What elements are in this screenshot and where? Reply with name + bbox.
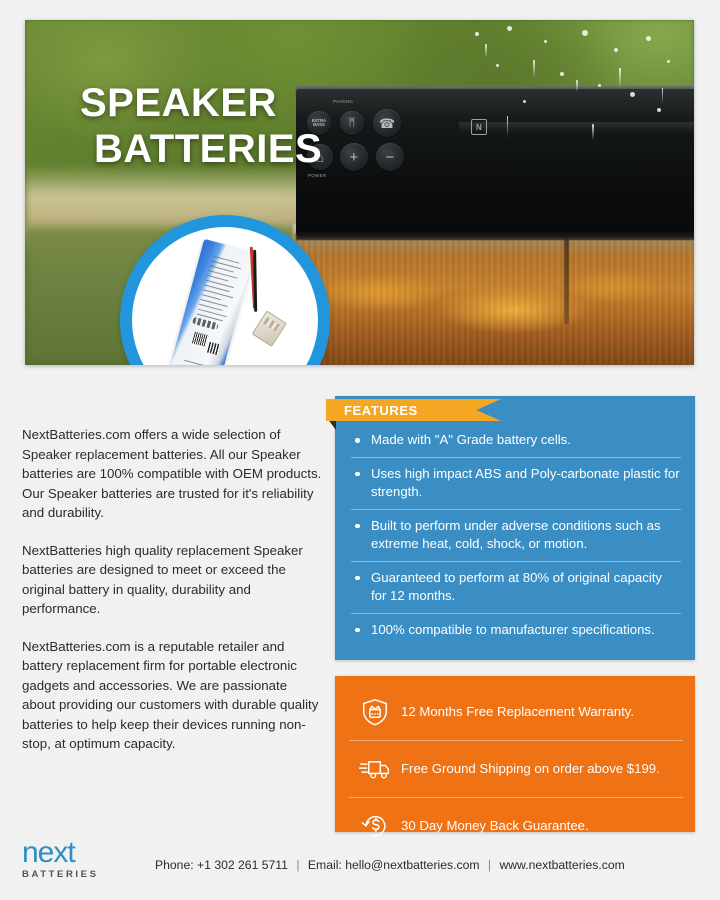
feature-item: Built to perform under adverse condition… bbox=[351, 510, 681, 562]
benefit-item: 12 Months Free Replacement Warranty. bbox=[349, 684, 683, 741]
logo-wordmark: next bbox=[22, 838, 130, 868]
feature-text: 100% compatible to manufacturer specific… bbox=[371, 621, 681, 640]
bullet-icon bbox=[355, 576, 360, 581]
bullet-icon bbox=[355, 524, 360, 529]
volume-down-button[interactable]: − bbox=[376, 143, 404, 171]
hero-title-line1: SPEAKER bbox=[80, 80, 322, 126]
hero-title-line2: BATTERIES bbox=[94, 126, 322, 172]
benefit-text: 12 Months Free Replacement Warranty. bbox=[401, 703, 634, 722]
pairing-label: PAIRING bbox=[333, 99, 353, 104]
bullet-icon bbox=[355, 472, 360, 477]
call-button[interactable]: ☎ bbox=[373, 109, 401, 137]
battery-black-wire bbox=[253, 250, 257, 312]
phone-number[interactable]: +1 302 261 5711 bbox=[197, 858, 288, 872]
features-heading-ribbon: FEATURES bbox=[326, 399, 501, 421]
bullet-icon bbox=[355, 628, 360, 633]
feature-text: Built to perform under adverse condition… bbox=[371, 517, 681, 554]
battery-pack-image bbox=[165, 239, 254, 365]
plank-nail bbox=[564, 234, 569, 324]
about-paragraph-1: NextBatteries.com offers a wide selectio… bbox=[22, 425, 322, 523]
benefit-text: Free Ground Shipping on order above $199… bbox=[401, 760, 660, 779]
about-paragraph-3: NextBatteries.com is a reputable retaile… bbox=[22, 637, 322, 754]
features-panel: Made with "A" Grade battery cells. Uses … bbox=[335, 396, 695, 660]
hero-title: SPEAKER BATTERIES bbox=[80, 80, 322, 172]
footer: next BATTERIES Phone: +1 302 261 5711 | … bbox=[22, 838, 698, 886]
benefits-list: 12 Months Free Replacement Warranty. Fre… bbox=[349, 684, 683, 854]
contact-separator-2: | bbox=[483, 858, 496, 872]
contact-separator-1: | bbox=[291, 858, 304, 872]
email-label: Email: bbox=[308, 858, 342, 872]
bluetooth-button[interactable]: ᛗ bbox=[340, 111, 364, 135]
features-heading-label: FEATURES bbox=[344, 403, 418, 418]
delivery-truck-icon bbox=[349, 756, 401, 782]
volume-up-button[interactable]: + bbox=[340, 143, 368, 171]
benefit-item: Free Ground Shipping on order above $199… bbox=[349, 741, 683, 798]
brand-logo[interactable]: next BATTERIES bbox=[22, 838, 130, 880]
feature-item: Made with "A" Grade battery cells. bbox=[351, 424, 681, 458]
shield-warranty-icon bbox=[349, 697, 401, 727]
contact-line: Phone: +1 302 261 5711 | Email: hello@ne… bbox=[155, 858, 625, 872]
speaker-base-shadow bbox=[296, 232, 694, 240]
water-spray bbox=[426, 20, 694, 220]
about-text-column: NextBatteries.com offers a wide selectio… bbox=[22, 425, 322, 772]
money-back-icon bbox=[349, 811, 401, 841]
feature-text: Uses high impact ABS and Poly-carbonate … bbox=[371, 465, 681, 502]
feature-item: 100% compatible to manufacturer specific… bbox=[351, 614, 681, 647]
flyer-page: PAIRING EXTRABASS ᛗ ☎ ⌂ POWER + − N bbox=[0, 0, 720, 900]
benefits-panel: 12 Months Free Replacement Warranty. Fre… bbox=[335, 676, 695, 832]
feature-text: Guaranteed to perform at 80% of original… bbox=[371, 569, 681, 606]
features-list: Made with "A" Grade battery cells. Uses … bbox=[351, 424, 681, 646]
feature-item: Guaranteed to perform at 80% of original… bbox=[351, 562, 681, 614]
wood-grain-texture bbox=[293, 234, 694, 365]
power-label: POWER bbox=[308, 173, 327, 178]
battery-connector bbox=[252, 310, 287, 347]
phone-label: Phone: bbox=[155, 858, 194, 872]
feature-item: Uses high impact ABS and Poly-carbonate … bbox=[351, 458, 681, 510]
logo-subtitle: BATTERIES bbox=[22, 869, 130, 880]
website-url[interactable]: www.nextbatteries.com bbox=[499, 858, 624, 872]
email-address[interactable]: hello@nextbatteries.com bbox=[345, 858, 479, 872]
feature-text: Made with "A" Grade battery cells. bbox=[371, 431, 681, 450]
about-paragraph-2: NextBatteries high quality replacement S… bbox=[22, 541, 322, 619]
bullet-icon bbox=[355, 438, 360, 443]
benefit-text: 30 Day Money Back Guarantee. bbox=[401, 817, 589, 836]
hero-banner: PAIRING EXTRABASS ᛗ ☎ ⌂ POWER + − N bbox=[25, 20, 694, 365]
